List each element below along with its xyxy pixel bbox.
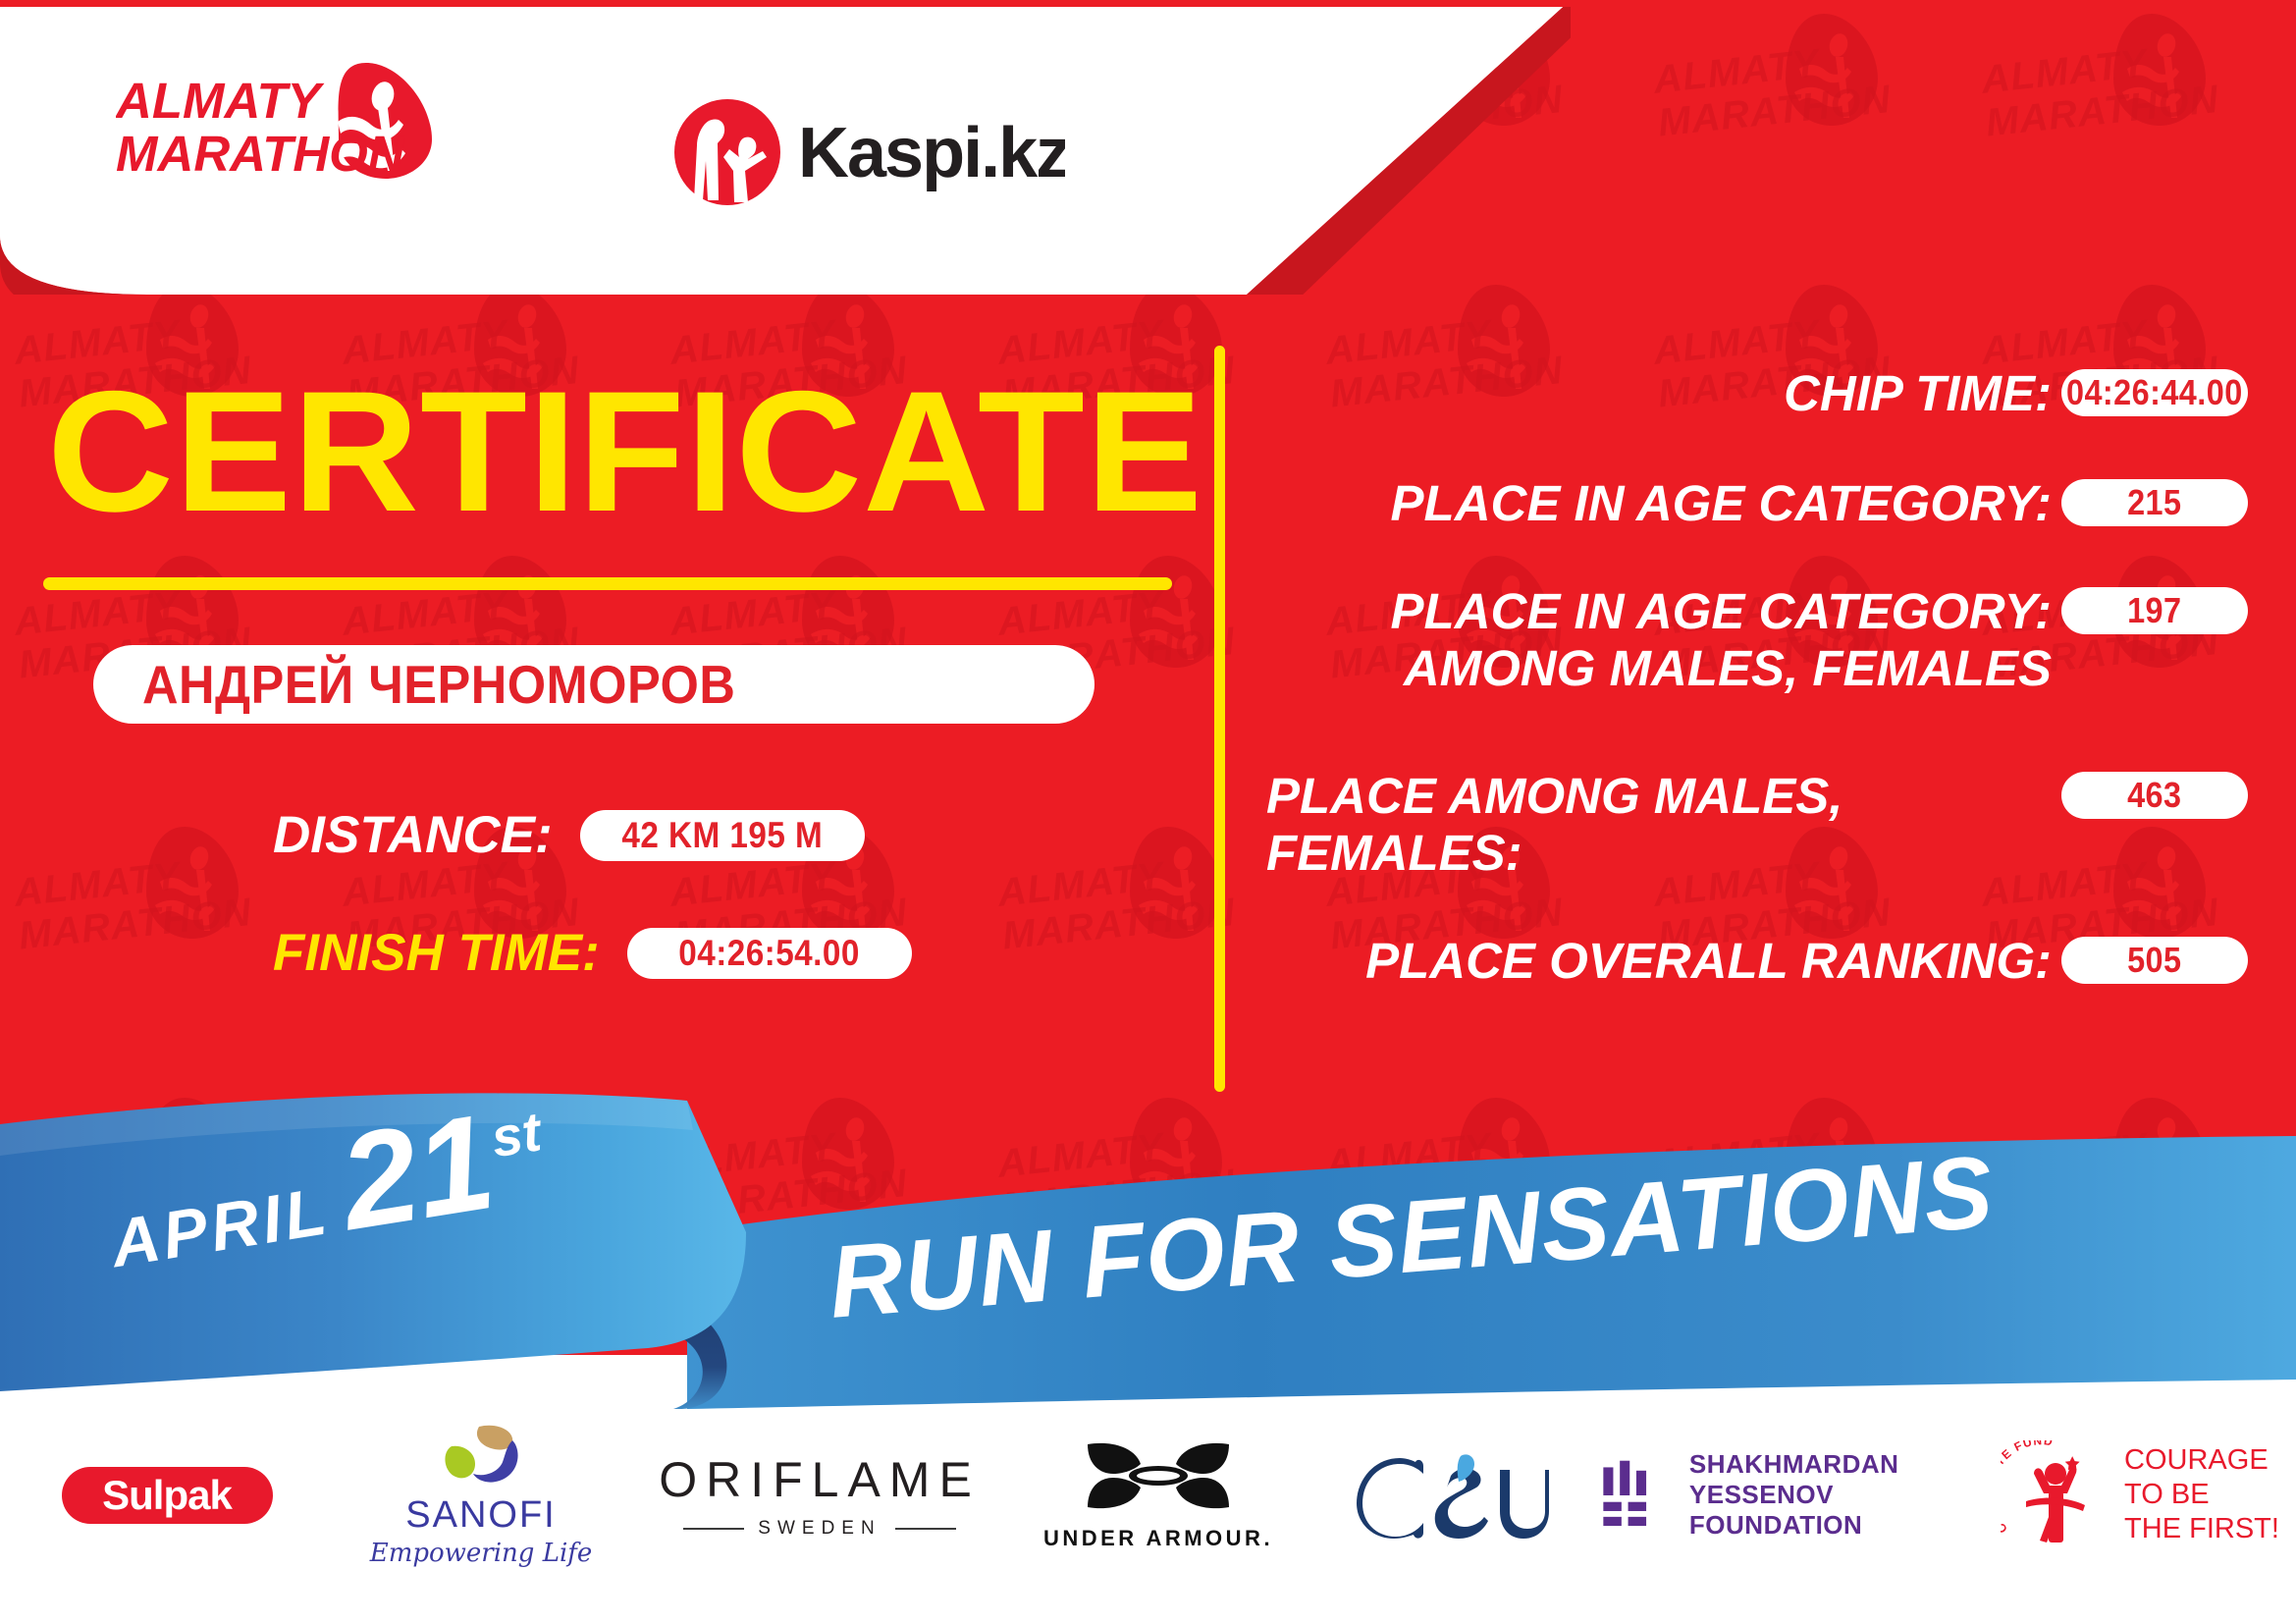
kaspi-wordmark: Kaspi.kz — [798, 114, 1065, 192]
chip-time-value-pill: 04:26:44.00 — [2061, 369, 2248, 416]
place-overall-value: 505 — [2127, 940, 2181, 981]
oriflame-wordmark: ORIFLAME — [659, 1451, 981, 1508]
oriflame-rule-right — [895, 1528, 956, 1530]
chip-time-label: CHIP TIME: — [1266, 365, 2061, 422]
sponsor-oriflame: ORIFLAME SWEDEN — [628, 1404, 1011, 1586]
svg-text:ALMATY: ALMATY — [116, 73, 325, 129]
finish-time-value-pill: 04:26:54.00 — [627, 928, 912, 979]
distance-value-pill: 42 KM 195 M — [580, 810, 865, 861]
label-line-2: FEMALES: — [1266, 825, 2052, 882]
under-armour-ua-icon — [1080, 1438, 1237, 1515]
svg-text:MARATHON: MARATHON — [116, 126, 405, 181]
distance-row: DISTANCE: 42 KM 195 M — [273, 805, 865, 865]
sanofi-tagline: Empowering Life — [370, 1539, 593, 1568]
place-age-category-gender-row: PLACE IN AGE CATEGORY: AMONG MALES, FEMA… — [1266, 583, 2248, 697]
place-among-gender-label: PLACE AMONG MALES, FEMALES: — [1266, 768, 2061, 882]
place-overall-row: PLACE OVERALL RANKING: 505 — [1266, 933, 2248, 990]
yessenov-line-2: FOUNDATION — [1689, 1510, 1993, 1541]
participant-name-field: АНДРЕЙ ЧЕРНОМОРОВ — [93, 645, 1095, 724]
yessenov-line-1: SHAKHMARDAN YESSENOV — [1689, 1449, 1993, 1510]
label-line-1: PLACE IN AGE CATEGORY: — [1266, 583, 2052, 640]
finish-time-label: FINISH TIME: — [273, 923, 600, 983]
courage-wordmark: COURAGE TO BE THE FIRST! — [2124, 1443, 2279, 1545]
kaspi-logo: Kaspi.kz — [672, 96, 1065, 212]
place-age-category-value: 215 — [2127, 482, 2181, 523]
place-among-gender-value-pill: 463 — [2061, 772, 2248, 819]
sponsor-sanofi: SANOFI Empowering Life — [334, 1404, 628, 1586]
results-panel: CHIP TIME: 04:26:44.00 PLACE IN AGE CATE… — [1266, 365, 2248, 1102]
yessenov-bars-icon — [1600, 1450, 1668, 1541]
event-day-suffix: st — [487, 1099, 545, 1169]
asu-logo-icon — [1355, 1446, 1551, 1544]
place-age-category-gender-label: PLACE IN AGE CATEGORY: AMONG MALES, FEMA… — [1266, 583, 2061, 697]
sulpak-logo: Sulpak — [62, 1467, 273, 1524]
kaspi-adult-child-circle-icon — [674, 99, 780, 205]
sponsor-asu — [1306, 1404, 1600, 1586]
place-age-category-gender-value-pill: 197 — [2061, 587, 2248, 634]
chip-time-value: 04:26:44.00 — [2066, 372, 2243, 413]
place-among-gender-row: PLACE AMONG MALES, FEMALES: 463 — [1266, 768, 2248, 882]
sponsor-strip: Sulpak SANOFI Empowering Life ORIFLAME — [0, 1404, 2296, 1586]
distance-value: 42 KM 195 M — [621, 815, 823, 856]
sponsor-yessenov-foundation: SHAKHMARDAN YESSENOV FOUNDATION — [1600, 1404, 1993, 1586]
yessenov-wordmark: SHAKHMARDAN YESSENOV FOUNDATION — [1689, 1449, 1993, 1542]
courage-line-2: TO BE — [2124, 1478, 2279, 1512]
oriflame-rule-left — [683, 1528, 744, 1530]
almaty-marathon-logo: ALMATY MARATHON — [116, 61, 450, 181]
sponsor-under-armour: UNDER ARMOUR. — [1011, 1404, 1306, 1586]
event-day: 21 — [332, 1094, 502, 1251]
certificate-canvas: ALMATY MARATHON ALMATY MARATHON — [0, 0, 2296, 1624]
under-armour-wordmark: UNDER ARMOUR. — [1043, 1526, 1273, 1551]
column-divider — [1214, 346, 1225, 1092]
place-age-category-row: PLACE IN AGE CATEGORY: 215 — [1266, 475, 2248, 532]
distance-label: DISTANCE: — [273, 805, 553, 865]
sanofi-bird-icon — [436, 1423, 526, 1488]
sponsor-courage-fund: CORPORATE FUND COURAGE TO BE THE FIRST! — [1993, 1404, 2287, 1586]
top-accent-rule — [0, 0, 2296, 7]
sanofi-wordmark: SANOFI — [370, 1494, 593, 1537]
finish-time-row: FINISH TIME: 04:26:54.00 — [273, 923, 912, 983]
place-age-category-label: PLACE IN AGE CATEGORY: — [1266, 475, 2061, 532]
title-underline — [43, 577, 1172, 590]
courage-line-1: COURAGE — [2124, 1443, 2279, 1478]
chip-time-row: CHIP TIME: 04:26:44.00 — [1266, 365, 2248, 422]
label-line-1: PLACE AMONG MALES, — [1266, 768, 2052, 825]
place-overall-label: PLACE OVERALL RANKING: — [1266, 933, 2061, 990]
sponsor-sulpak: Sulpak — [0, 1404, 334, 1586]
sulpak-wordmark: Sulpak — [102, 1472, 232, 1519]
courage-runner-finish-tape-icon: CORPORATE FUND — [2001, 1440, 2110, 1550]
courage-line-3: THE FIRST! — [2124, 1512, 2279, 1546]
label-line-2: AMONG MALES, FEMALES — [1266, 640, 2052, 697]
participant-name-value: АНДРЕЙ ЧЕРНОМОРОВ — [142, 653, 735, 716]
finish-time-value: 04:26:54.00 — [678, 933, 860, 974]
place-age-category-value-pill: 215 — [2061, 479, 2248, 526]
oriflame-country: SWEDEN — [758, 1518, 881, 1540]
oriflame-sub-lockup: SWEDEN — [659, 1518, 981, 1540]
place-age-category-gender-value: 197 — [2127, 590, 2181, 631]
place-overall-value-pill: 505 — [2061, 937, 2248, 984]
page-title: CERTIFICATE — [47, 373, 1199, 533]
place-among-gender-value: 463 — [2127, 775, 2181, 816]
